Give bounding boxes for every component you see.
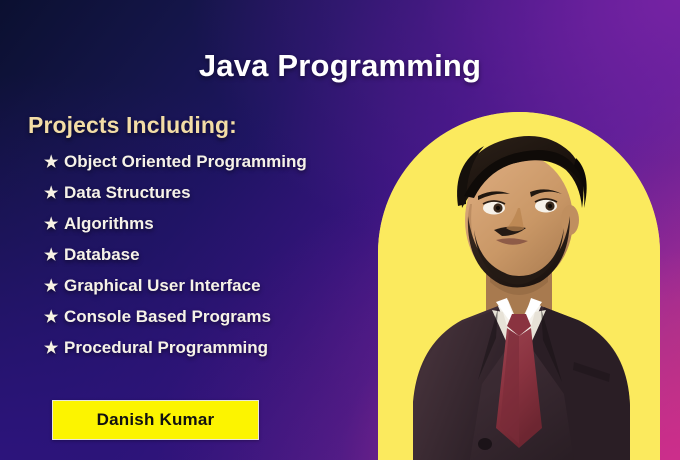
portrait-photo (378, 112, 660, 460)
star-icon: ★ (44, 248, 64, 264)
list-item: ★ Data Structures (44, 183, 384, 214)
list-item-label: Console Based Programs (64, 307, 271, 327)
list-item-label: Data Structures (64, 183, 191, 203)
list-item: ★ Procedural Programming (44, 338, 384, 369)
name-badge: Danish Kumar (52, 400, 259, 440)
star-icon: ★ (44, 310, 64, 326)
star-icon: ★ (44, 217, 64, 233)
list-item-label: Procedural Programming (64, 338, 268, 358)
star-icon: ★ (44, 186, 64, 202)
list-item-label: Database (64, 245, 140, 265)
list-item: ★ Console Based Programs (44, 307, 384, 338)
features-list: ★ Object Oriented Programming ★ Data Str… (44, 152, 384, 369)
star-icon: ★ (44, 341, 64, 357)
name-badge-label: Danish Kumar (97, 410, 215, 430)
list-item: ★ Graphical User Interface (44, 276, 384, 307)
portrait-container (378, 112, 660, 394)
list-item-label: Object Oriented Programming (64, 152, 307, 172)
list-item-label: Graphical User Interface (64, 276, 261, 296)
page-title: Java Programming (0, 48, 680, 84)
projects-including-heading: Projects Including: (28, 112, 237, 139)
star-icon: ★ (44, 279, 64, 295)
list-item: ★ Algorithms (44, 214, 384, 245)
list-item: ★ Object Oriented Programming (44, 152, 384, 183)
java-programming-poster: Java Programming Projects Including: ★ O… (0, 0, 680, 460)
list-item-label: Algorithms (64, 214, 154, 234)
list-item: ★ Database (44, 245, 384, 276)
star-icon: ★ (44, 155, 64, 171)
